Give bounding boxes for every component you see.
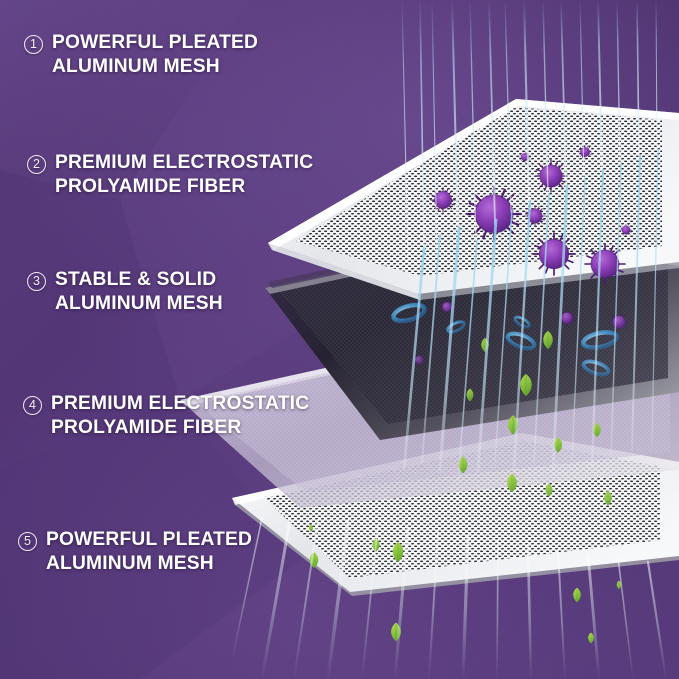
layer-label-text-1: POWERFUL PLEATED ALUMINUM MESH (52, 31, 258, 78)
layer-label-text-4: PREMIUM ELECTROSTATIC PROLYAMIDE FIBER (51, 392, 309, 439)
layer-number-badge-1: 1 (24, 35, 43, 54)
layer-label-2[interactable]: 2 PREMIUM ELECTROSTATIC PROLYAMIDE FIBER (27, 151, 313, 198)
layer-label-5[interactable]: 5 POWERFUL PLEATED ALUMINUM MESH (18, 528, 252, 575)
layer-label-text-5: POWERFUL PLEATED ALUMINUM MESH (46, 528, 252, 575)
layer-number-badge-4: 4 (23, 396, 42, 415)
layer-label-text-2: PREMIUM ELECTROSTATIC PROLYAMIDE FIBER (55, 151, 313, 198)
layer-label-1[interactable]: 1 POWERFUL PLEATED ALUMINUM MESH (24, 31, 258, 78)
layer-number-badge-5: 5 (18, 532, 37, 551)
layer-label-list: 1 POWERFUL PLEATED ALUMINUM MESH 2 PREMI… (0, 0, 360, 679)
infographic-canvas: 1 POWERFUL PLEATED ALUMINUM MESH 2 PREMI… (0, 0, 679, 679)
layer-label-text-3: STABLE & SOLID ALUMINUM MESH (55, 268, 223, 315)
layer-number-badge-3: 3 (27, 272, 46, 291)
layer-label-3[interactable]: 3 STABLE & SOLID ALUMINUM MESH (27, 268, 223, 315)
layer-number-badge-2: 2 (27, 155, 46, 174)
layer-label-4[interactable]: 4 PREMIUM ELECTROSTATIC PROLYAMIDE FIBER (23, 392, 309, 439)
